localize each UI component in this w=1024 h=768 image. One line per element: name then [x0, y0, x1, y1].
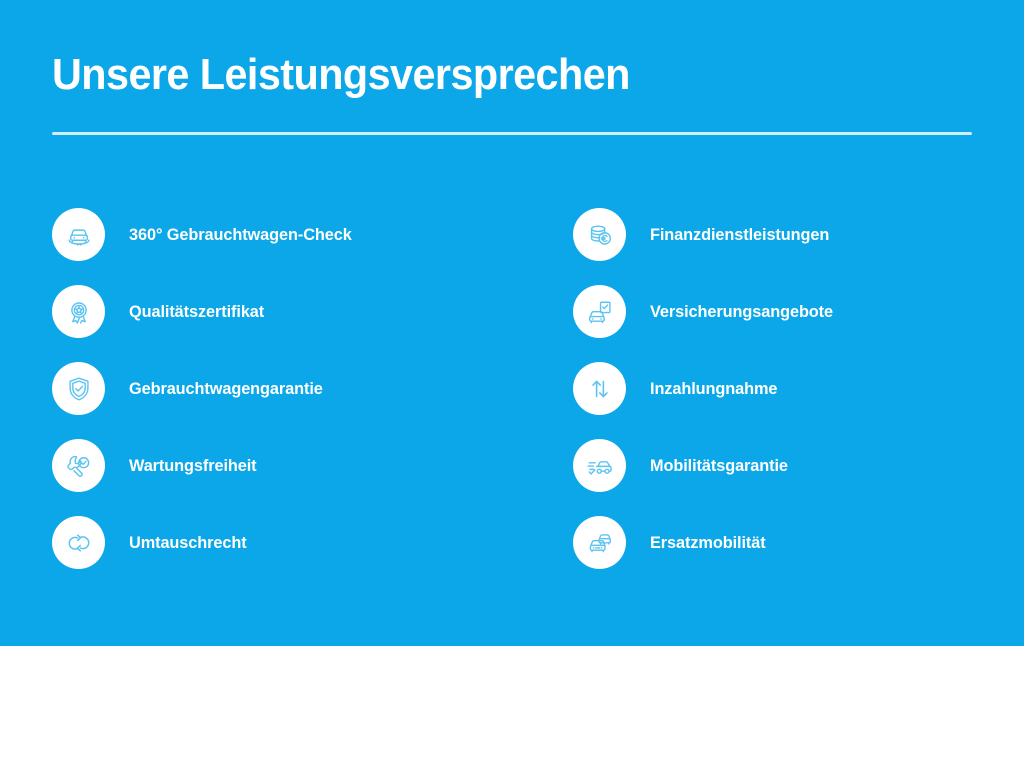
promise-item-mobilitaetsgarantie[interactable]: Mobilitätsgarantie — [573, 427, 1003, 504]
promise-label: Versicherungsangebote — [650, 302, 833, 322]
promise-item-qualitaetszertifikat[interactable]: Qualitätszertifikat — [52, 273, 482, 350]
two-cars-icon — [573, 516, 626, 569]
promise-item-gebrauchtwagen-check[interactable]: 360° Gebrauchtwagen-Check — [52, 196, 482, 273]
wrench-check-icon — [52, 439, 105, 492]
car-360-check-icon — [52, 208, 105, 261]
promise-label: Ersatzmobilität — [650, 533, 766, 553]
promise-label: Qualitätszertifikat — [129, 302, 264, 322]
promise-label: Inzahlungnahme — [650, 379, 777, 399]
promise-label: Wartungsfreiheit — [129, 456, 257, 476]
promise-item-finanzdienstleistungen[interactable]: Finanzdienstleistungen — [573, 196, 1003, 273]
promise-label: Mobilitätsgarantie — [650, 456, 788, 476]
title-divider — [52, 132, 972, 135]
footer-bar: Hülpert Planetenfeldstraße — [0, 646, 1024, 768]
exchange-arrows-icon — [52, 516, 105, 569]
car-document-check-icon — [573, 285, 626, 338]
up-down-arrows-icon — [573, 362, 626, 415]
shield-check-icon — [52, 362, 105, 415]
slide-root: Unsere Leistungsversprechen — [0, 0, 1024, 768]
promise-column-right: Finanzdienstleistungen — [573, 196, 1003, 581]
award-rosette-icon — [52, 285, 105, 338]
promise-item-ersatzmobilitaet[interactable]: Ersatzmobilität — [573, 504, 1003, 581]
promise-item-versicherungsangebote[interactable]: Versicherungsangebote — [573, 273, 1003, 350]
promise-label: 360° Gebrauchtwagen-Check — [129, 225, 352, 245]
page-title: Unsere Leistungsversprechen — [52, 52, 630, 98]
promise-item-umtauschrecht[interactable]: Umtauschrecht — [52, 504, 482, 581]
promise-label: Finanzdienstleistungen — [650, 225, 829, 245]
coins-euro-icon — [573, 208, 626, 261]
promise-item-wartungsfreiheit[interactable]: Wartungsfreiheit — [52, 427, 482, 504]
promise-column-left: 360° Gebrauchtwagen-Check Qualitätszerti… — [52, 196, 482, 581]
moving-car-check-icon — [573, 439, 626, 492]
promise-label: Umtauschrecht — [129, 533, 247, 553]
hero-panel: Unsere Leistungsversprechen — [0, 0, 1024, 646]
promise-label: Gebrauchtwagengarantie — [129, 379, 323, 399]
promise-item-gebrauchtwagengarantie[interactable]: Gebrauchtwagengarantie — [52, 350, 482, 427]
promise-item-inzahlungnahme[interactable]: Inzahlungnahme — [573, 350, 1003, 427]
